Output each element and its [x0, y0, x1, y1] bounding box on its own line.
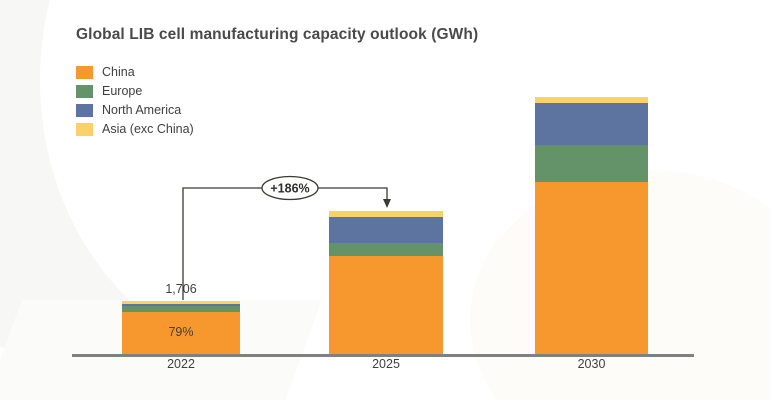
- growth-callout-label: +186%: [270, 182, 309, 196]
- growth-leader-line: [183, 188, 263, 300]
- growth-annotation: +186%: [0, 0, 770, 400]
- growth-arrow-line: [318, 188, 387, 200]
- growth-arrow-head-icon: [383, 199, 391, 208]
- chart-figure: Global LIB cell manufacturing capacity o…: [0, 0, 770, 400]
- plot-area: Global LIB cell manufacturing capacity o…: [0, 0, 770, 400]
